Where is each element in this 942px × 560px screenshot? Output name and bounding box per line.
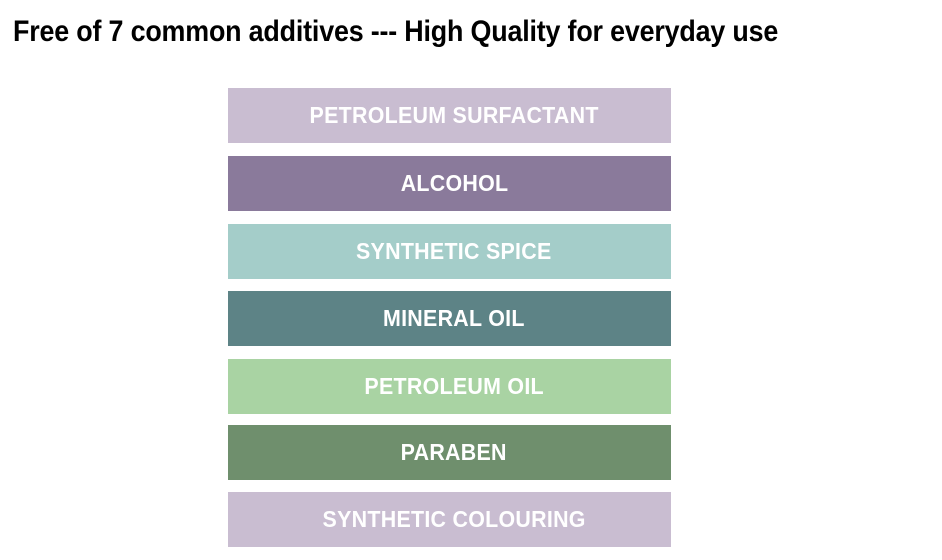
bar-label: SYNTHETIC COLOURING	[323, 508, 586, 531]
bar-label: PETROLEUM OIL	[364, 375, 544, 398]
list-item: SYNTHETIC COLOURING	[228, 492, 671, 547]
list-item: MINERAL OIL	[228, 291, 671, 346]
additive-bar-list: PETROLEUM SURFACTANT ALCOHOL SYNTHETIC S…	[0, 0, 942, 560]
bar-label: ALCOHOL	[400, 172, 508, 195]
list-item: SYNTHETIC SPICE	[228, 224, 671, 279]
bar-label: PARABEN	[401, 441, 507, 464]
bar-label: SYNTHETIC SPICE	[356, 240, 552, 263]
bar-label: MINERAL OIL	[383, 307, 525, 330]
list-item: PETROLEUM OIL	[228, 359, 671, 414]
bar-label: PETROLEUM SURFACTANT	[310, 104, 599, 127]
list-item: PARABEN	[228, 425, 671, 480]
additive-free-infographic: Free of 7 common additives --- High Qual…	[0, 0, 942, 560]
list-item: ALCOHOL	[228, 156, 671, 211]
list-item: PETROLEUM SURFACTANT	[228, 88, 671, 143]
